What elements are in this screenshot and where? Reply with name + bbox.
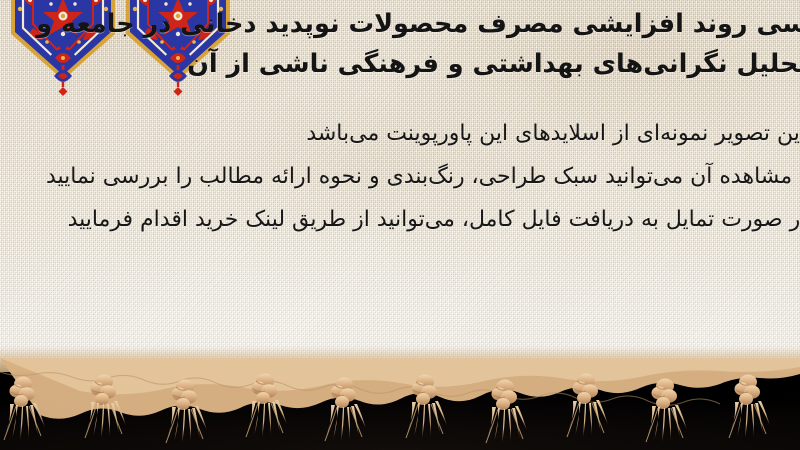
slide-canvas: رسی روند افزایشی مصرف محصولات نوپدید دخا… [0, 0, 800, 450]
slide-title-line-1: رسی روند افزایشی مصرف محصولات نوپدید دخا… [188, 4, 800, 44]
slide-title-line-2: تحلیل نگرانی‌های بهداشتی و فرهنگی ناشی ا… [188, 44, 800, 84]
slide-body-line-1: این تصویر نمونه‌ای از اسلایدهای این پاور… [0, 112, 800, 155]
slide-body-line-2: با مشاهده آن می‌توانید سبک طراحی، رنگ‌بن… [0, 155, 800, 198]
slide-body-line-3: در صورت تمایل به دریافت فایل کامل، می‌تو… [0, 198, 800, 241]
slide-title: رسی روند افزایشی مصرف محصولات نوپدید دخا… [0, 4, 800, 84]
slide-text-layer: رسی روند افزایشی مصرف محصولات نوپدید دخا… [0, 0, 800, 372]
slide-body: این تصویر نمونه‌ای از اسلایدهای این پاور… [0, 112, 800, 241]
